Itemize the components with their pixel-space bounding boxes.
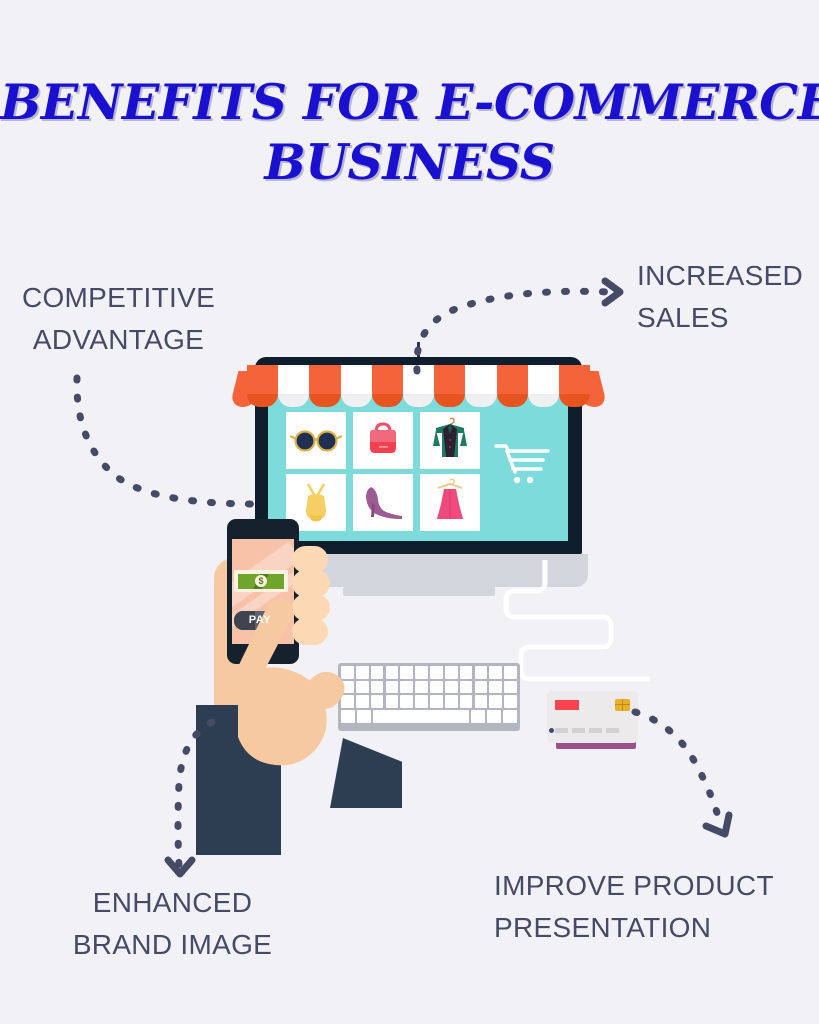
arrow-hand-to-enhanced-brand-image: [178, 722, 212, 866]
arrow-storefront-to-increased-sales: [417, 291, 609, 371]
pay-button-label: PAY: [249, 614, 272, 626]
arrow-competitive-to-storefront: [77, 378, 255, 504]
label-competitive-line-1: COMPETITIVE: [0, 277, 237, 319]
infographic-canvas: BENEFITS FOR E-COMMERCE BUSINESS: [0, 0, 819, 1024]
label-enhanced-line-2: BRAND IMAGE: [34, 924, 311, 966]
label-improve-product-presentation: IMPROVE PRODUCT PRESENTATION: [494, 865, 774, 949]
label-competitive-line-2: ADVANTAGE: [0, 319, 237, 361]
label-competitive-advantage: COMPETITIVE ADVANTAGE: [0, 277, 237, 361]
label-enhanced-brand-image: ENHANCED BRAND IMAGE: [34, 882, 311, 966]
arrow-card-to-improve-presentation: [635, 712, 721, 828]
arrowhead-improve-presentation: [706, 815, 729, 834]
label-increased-sales: INCREASED SALES: [637, 255, 803, 339]
label-increased-line-2: SALES: [637, 297, 803, 339]
label-increased-line-1: INCREASED: [637, 255, 803, 297]
label-enhanced-line-1: ENHANCED: [34, 882, 311, 924]
label-improve-line-2: PRESENTATION: [494, 907, 774, 949]
label-improve-line-1: IMPROVE PRODUCT: [494, 865, 774, 907]
